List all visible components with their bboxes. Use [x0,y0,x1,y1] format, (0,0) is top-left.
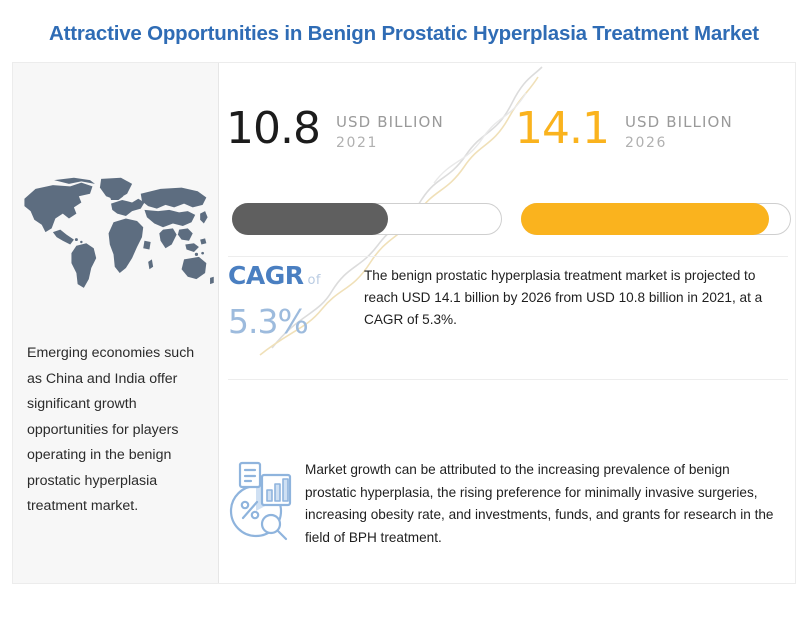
metric-bar-fill-2026 [521,203,769,235]
infographic-root: Attractive Opportunities in Benign Prost… [0,0,808,635]
metric-header-2026: 14.1 USD BILLION 2026 [515,107,733,169]
world-map-icon [17,145,215,323]
metric-header-2021: 10.8 USD BILLION 2021 [226,107,444,169]
metric-bar-track-2026 [521,203,791,235]
metric-year-2026: 2026 [625,133,733,153]
metric-market-size-2026: 14.1 USD BILLION 2026 [515,63,795,255]
cagr-of-label: of [307,273,321,288]
page-title-text: Attractive Opportunities in Benign Prost… [49,22,759,45]
content-card: Emerging economies such as China and Ind… [12,62,796,584]
bottom-row: Market growth can be attributed to the i… [220,393,795,543]
metric-value-2021: 10.8 [226,107,320,151]
metric-value-2026: 14.1 [515,107,609,151]
market-analytics-icon [228,457,298,543]
cagr-block: CAGRof 5.3% [228,261,354,342]
divider-bottom [228,379,788,380]
market-growth-text: Market growth can be attributed to the i… [305,459,775,549]
cagr-row: CAGRof 5.3% The benign prostatic hyperpl… [220,261,795,377]
metric-bar-fill-2021 [232,203,389,235]
cagr-label-line: CAGRof [228,261,354,296]
metric-unit-block-2021: USD BILLION 2021 [336,107,444,153]
metric-unit-2021: USD BILLION [336,113,444,131]
market-description-text: The benign prostatic hyperplasia treatme… [364,265,788,331]
metric-market-size-2021: 10.8 USD BILLION 2021 [226,63,509,255]
right-panel: 10.8 USD BILLION 2021 14.1 USD [220,63,795,583]
metrics-row: 10.8 USD BILLION 2021 14.1 USD [220,63,795,255]
divider-top [228,256,788,257]
cagr-label: CAGR [228,261,303,290]
metric-unit-block-2026: USD BILLION 2026 [625,107,733,153]
left-panel-caption: Emerging economies such as China and Ind… [27,341,209,520]
metric-year-2021: 2021 [336,133,444,153]
left-panel: Emerging economies such as China and Ind… [13,63,219,583]
page-title: Attractive Opportunities in Benign Prost… [0,22,808,46]
metric-bar-track-2021 [232,203,502,235]
metric-unit-2026: USD BILLION [625,113,733,131]
cagr-value: 5.3% [228,302,354,342]
